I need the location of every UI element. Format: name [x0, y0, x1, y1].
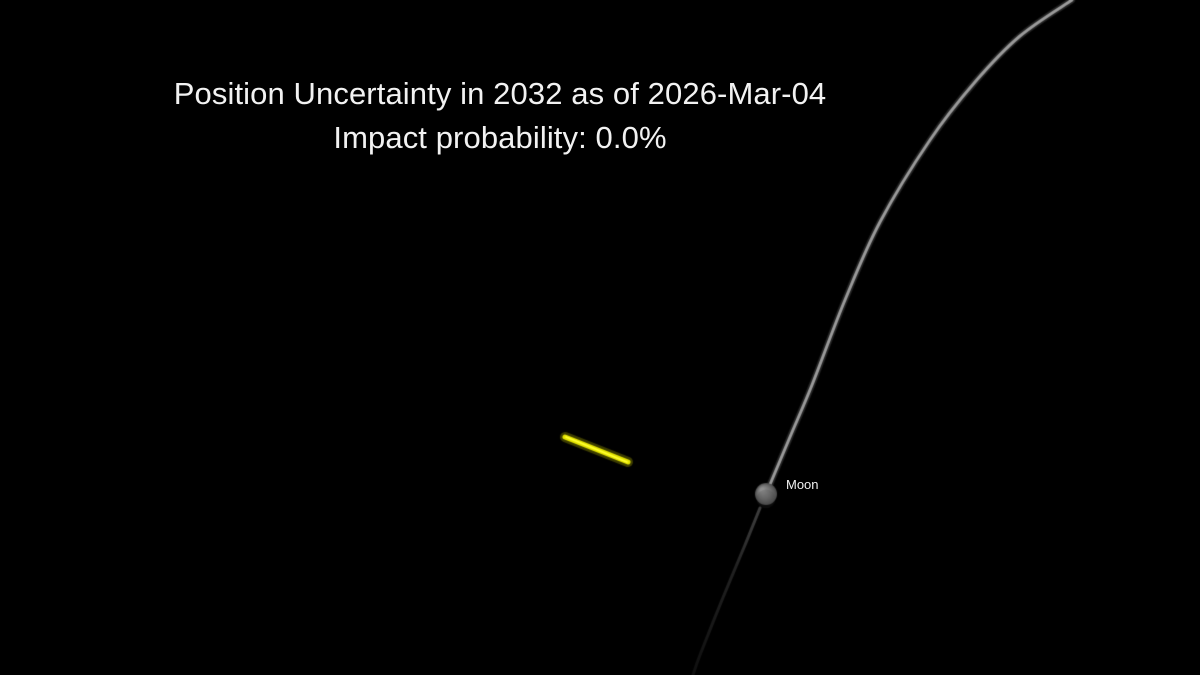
visualization-stage: Position Uncertainty in 2032 as of 2026-… — [0, 0, 1200, 675]
orbit-diagram-canvas — [0, 0, 1200, 675]
moon-label: Moon — [786, 478, 819, 492]
